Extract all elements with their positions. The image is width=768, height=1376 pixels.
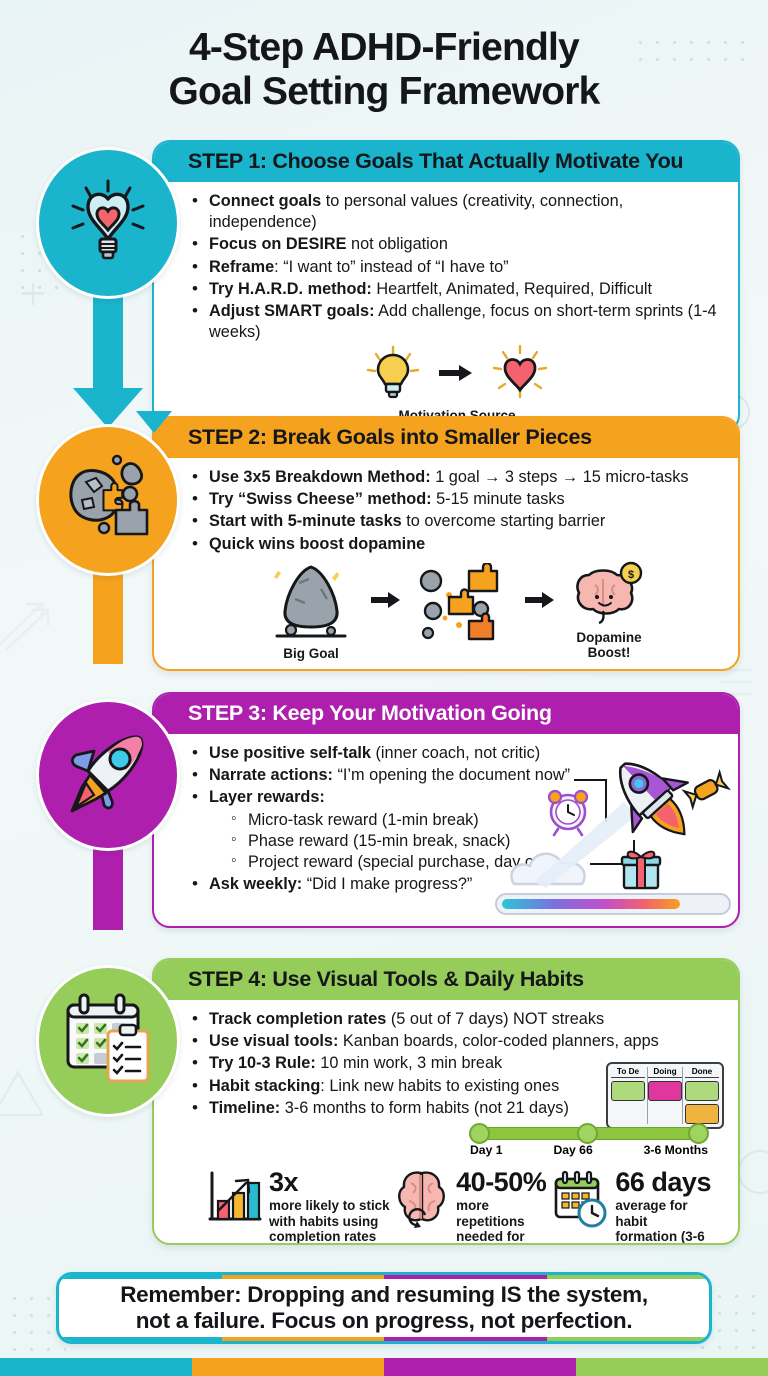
step-3-card-wrapper: STEP 3: Keep Your Motivation Going Use p… xyxy=(152,692,740,928)
step-4-body: Track completion rates (5 out of 7 days)… xyxy=(154,1000,738,1243)
brain-icon xyxy=(395,1169,449,1234)
stat-value-days: 66 days xyxy=(615,1169,712,1196)
step-1-connector-stem xyxy=(93,290,123,390)
remember-line-1: Remember: Dropping and resuming IS the s… xyxy=(120,1282,648,1308)
calendar-checklist-icon xyxy=(58,991,158,1092)
lightbulb-heart-icon xyxy=(60,173,156,274)
arrow-right-icon xyxy=(439,363,473,388)
remember-line-2: not a failure. Focus on progress, not pe… xyxy=(120,1308,648,1334)
calendar-clock-icon xyxy=(552,1169,608,1234)
timeline-label-day66: Day 66 xyxy=(553,1143,592,1157)
step-1-icon-bubble xyxy=(36,147,180,299)
arrow-decoration-left xyxy=(0,592,66,652)
bottom-color-bar xyxy=(0,1358,768,1376)
remember-bar-top-1 xyxy=(59,1275,222,1279)
remember-bar-bottom-3 xyxy=(384,1337,547,1341)
step-2-bullet-list: Use 3x5 Breakdown Method: 1 goal → 3 ste… xyxy=(192,467,722,555)
stat-item-reps: 40-50% more repetitions needed for ADHD … xyxy=(395,1169,548,1245)
remember-callout: Remember: Dropping and resuming IS the s… xyxy=(56,1272,712,1344)
step-4-icon-bubble xyxy=(36,965,180,1117)
step-2-card: STEP 2: Break Goals into Smaller Pieces … xyxy=(152,416,740,671)
title-line-1: 4-Step ADHD-Friendly xyxy=(189,26,579,69)
bottom-bar-orange xyxy=(192,1358,384,1376)
step-2-label-big-goal: Big Goal xyxy=(283,646,339,661)
bottom-bar-green xyxy=(576,1358,768,1376)
ring-decoration-bottom-right xyxy=(738,1150,768,1194)
kanban-board-mini: To De Doing Done xyxy=(606,1062,724,1129)
remember-bar-top-3 xyxy=(384,1275,547,1279)
list-item: Quick wins boost dopamine xyxy=(192,534,722,555)
heart-icon xyxy=(491,345,549,406)
remember-bar-top-2 xyxy=(222,1275,385,1279)
timeline-dot-mid xyxy=(577,1123,598,1144)
triangle-decoration-left xyxy=(0,1070,48,1120)
lightbulb-icon xyxy=(365,345,421,406)
stat-value-3x: 3x xyxy=(269,1169,391,1196)
brain-coin-icon: $ xyxy=(569,559,649,630)
habit-timeline: Day 1 Day 66 3-6 Months xyxy=(470,1127,708,1157)
step-3-connector-stem xyxy=(93,842,123,930)
kanban-note xyxy=(685,1104,719,1124)
step-2-heading: STEP 2: Break Goals into Smaller Pieces xyxy=(154,418,738,458)
list-item: Start with 5-minute tasks to overcome st… xyxy=(192,511,722,532)
step-2-body: Use 3x5 Breakdown Method: 1 goal → 3 ste… xyxy=(154,458,738,669)
page-title: 4-Step ADHD-Friendly Goal Setting Framew… xyxy=(0,26,768,115)
list-item: Try “Swiss Cheese” method: 5-15 minute t… xyxy=(192,489,722,510)
title-line-2: Goal Setting Framework xyxy=(0,70,768,114)
step-4-heading: STEP 4: Use Visual Tools & Daily Habits xyxy=(154,960,738,1000)
step-1-card-wrapper: STEP 1: Choose Goals That Actually Motiv… xyxy=(152,140,740,433)
rock-icon xyxy=(265,559,357,646)
kanban-note xyxy=(648,1081,682,1101)
kanban-header-doing: Doing xyxy=(648,1067,682,1078)
kanban-column-todo: To De xyxy=(611,1067,645,1124)
bottom-bar-teal xyxy=(0,1358,192,1376)
step-1-illustration: Motivation Source xyxy=(192,345,722,423)
svg-text:$: $ xyxy=(628,569,634,581)
step-1-card: STEP 1: Choose Goals That Actually Motiv… xyxy=(152,140,740,433)
bottom-bar-purple xyxy=(384,1358,576,1376)
step-2-illustration: Big Goal xyxy=(192,559,722,661)
list-item: Use visual tools: Kanban boards, color-c… xyxy=(192,1031,722,1052)
step-4-card-wrapper: STEP 4: Use Visual Tools & Daily Habits … xyxy=(152,958,740,1245)
rocket-launch-illustration xyxy=(494,744,734,924)
arrow-right-icon xyxy=(371,591,401,614)
list-item: Reframe: “I want to” instead of “I have … xyxy=(192,257,722,278)
kanban-header-done: Done xyxy=(685,1067,719,1078)
rocket-icon xyxy=(60,725,156,826)
step-1-body: Connect goals to personal values (creati… xyxy=(154,182,738,431)
step-3-icon-bubble xyxy=(36,699,180,851)
stat-value-reps: 40-50% xyxy=(456,1169,548,1196)
timeline-dot-start xyxy=(469,1123,490,1144)
remember-bar-bottom-1 xyxy=(59,1337,222,1341)
remember-bar-bottom-4 xyxy=(547,1337,710,1341)
timeline-label-months: 3-6 Months xyxy=(644,1143,708,1157)
kanban-header-todo: To De xyxy=(611,1067,645,1078)
timeline-bar xyxy=(470,1127,708,1140)
step-2-card-wrapper: STEP 2: Break Goals into Smaller Pieces … xyxy=(152,416,740,671)
step-1-connector-arrow xyxy=(73,388,143,428)
step-3-card: STEP 3: Keep Your Motivation Going Use p… xyxy=(152,692,740,928)
list-item: Connect goals to personal values (creati… xyxy=(192,191,722,233)
infographic-page: 4-Step ADHD-Friendly Goal Setting Framew… xyxy=(0,0,768,1376)
step-4-card: STEP 4: Use Visual Tools & Daily Habits … xyxy=(152,958,740,1245)
step-2-notch xyxy=(136,411,172,433)
arrow-right-icon xyxy=(525,591,555,614)
bar-chart-icon xyxy=(206,1169,262,1232)
list-item: Try H.A.R.D. method: Heartfelt, Animated… xyxy=(192,279,722,300)
kanban-note xyxy=(685,1081,719,1101)
list-item: Track completion rates (5 out of 7 days)… xyxy=(192,1009,722,1030)
step-2-connector-stem xyxy=(93,566,123,664)
step-2-icon-bubble xyxy=(36,424,180,576)
step-2-label-dopamine: Dopamine Boost! xyxy=(571,630,647,660)
kanban-note xyxy=(611,1081,645,1101)
stat-item-days: 66 days average for habit formation (3-6… xyxy=(552,1169,712,1245)
list-item: Focus on DESIRE not obligation xyxy=(192,234,722,255)
timeline-label-day1: Day 1 xyxy=(470,1143,503,1157)
stat-item-3x: 3x more likely to stick with habits usin… xyxy=(206,1169,391,1245)
remember-bar-top-4 xyxy=(547,1275,710,1279)
step-3-body: Use positive self-talk (inner coach, not… xyxy=(154,734,738,926)
boulder-puzzle-icon xyxy=(58,452,158,549)
stat-caption-3x: more likely to stick with habits using c… xyxy=(269,1198,391,1245)
plus-decoration-left xyxy=(22,283,44,305)
step-1-bullet-list: Connect goals to personal values (creati… xyxy=(192,191,722,343)
kanban-column-doing: Doing xyxy=(647,1067,683,1124)
stat-caption-reps: more repetitions needed for ADHD brains … xyxy=(456,1198,548,1245)
stat-caption-days: average for habit formation (3-6 months … xyxy=(615,1198,712,1245)
remember-bar-bottom-2 xyxy=(222,1337,385,1341)
stats-row: 3x more likely to stick with habits usin… xyxy=(192,1165,722,1245)
timeline-labels: Day 1 Day 66 3-6 Months xyxy=(470,1143,708,1157)
step-1-heading: STEP 1: Choose Goals That Actually Motiv… xyxy=(154,142,738,182)
remember-text: Remember: Dropping and resuming IS the s… xyxy=(120,1282,648,1334)
list-item: Adjust SMART goals: Add challenge, focus… xyxy=(192,301,722,343)
list-item: Use 3x5 Breakdown Method: 1 goal → 3 ste… xyxy=(192,467,722,488)
timeline-dot-end xyxy=(688,1123,709,1144)
step-3-heading: STEP 3: Keep Your Motivation Going xyxy=(154,694,738,734)
broken-pieces-icon xyxy=(415,563,511,648)
kanban-column-done: Done xyxy=(685,1067,719,1124)
